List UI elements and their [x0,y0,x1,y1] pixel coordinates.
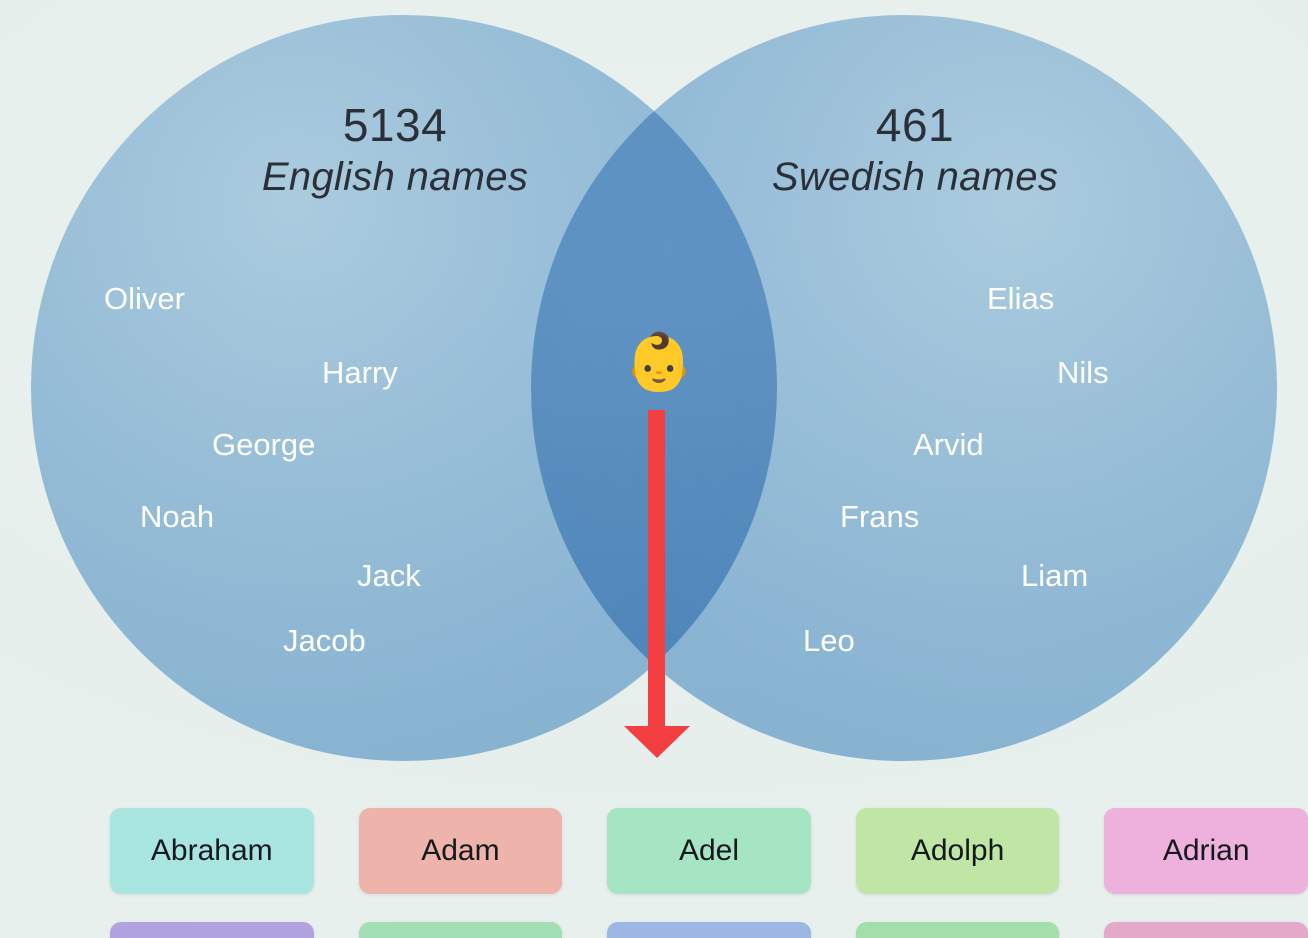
name-chip[interactable] [110,922,314,938]
venn-names-figure: 5134 English names 461 Swedish names Oli… [0,0,1308,938]
chip-row [0,922,1308,938]
name-chip[interactable]: Adrian [1104,808,1308,894]
name-chip[interactable] [607,922,811,938]
english-label: English names [200,152,590,202]
swedish-name: Leo [803,625,855,656]
english-name: Noah [140,501,214,532]
name-chip-list: Abraham Adam Adel Adolph Adrian [0,808,1308,938]
swedish-heading: 461 Swedish names [720,98,1110,202]
swedish-label: Swedish names [720,152,1110,202]
english-heading: 5134 English names [200,98,590,202]
name-chip[interactable]: Adam [359,808,563,894]
name-chip[interactable]: Adolph [856,808,1060,894]
down-arrow-icon-shaft [648,410,665,732]
name-chip[interactable]: Abraham [110,808,314,894]
swedish-name: Nils [1057,357,1109,388]
name-chip[interactable] [359,922,563,938]
down-arrow-icon-head [624,726,690,758]
english-count: 5134 [200,98,590,152]
swedish-name: Frans [840,501,919,532]
name-chip[interactable] [856,922,1060,938]
name-chip[interactable] [1104,922,1308,938]
english-name: Jacob [283,625,366,656]
english-name: Jack [357,560,421,591]
chip-row: Abraham Adam Adel Adolph Adrian [0,808,1308,894]
english-name: George [212,429,315,460]
swedish-name: Arvid [913,429,984,460]
name-chip[interactable]: Adel [607,808,811,894]
english-name: Harry [322,357,398,388]
swedish-name: Liam [1021,560,1088,591]
baby-emoji-icon: 👶 [624,330,688,394]
english-name: Oliver [104,283,185,314]
swedish-count: 461 [720,98,1110,152]
swedish-name: Elias [987,283,1054,314]
